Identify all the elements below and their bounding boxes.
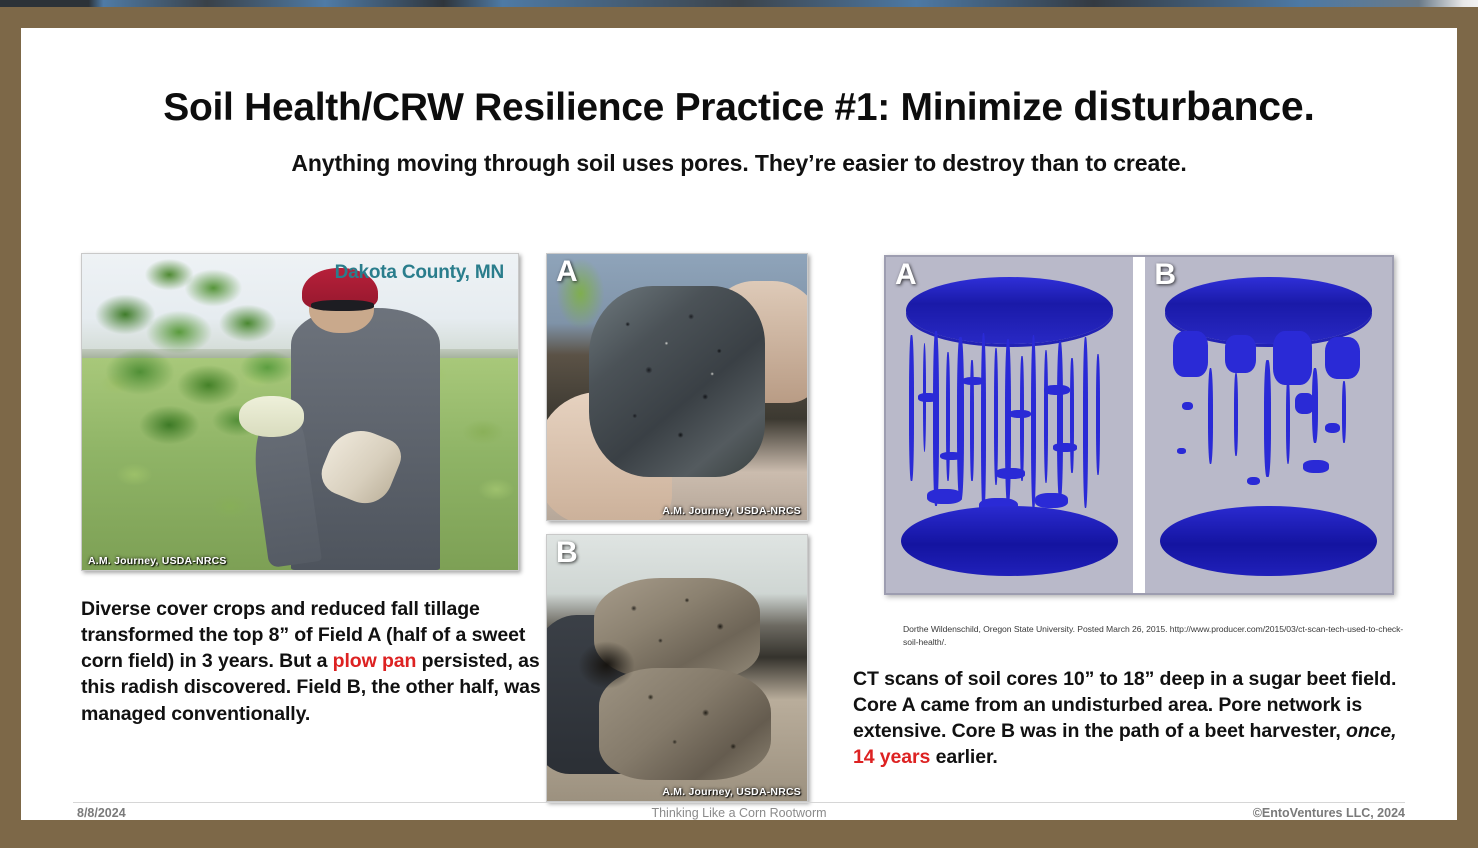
ct-panel-letter-b: B <box>1154 258 1176 292</box>
photo-radish-crown <box>239 396 304 437</box>
caption-highlight-plow-pan: plow pan <box>333 650 417 672</box>
caption-italic-once: once, <box>1346 720 1396 742</box>
ct-core-b: B <box>1145 257 1392 593</box>
left-caption: Diverse cover crops and reduced fall til… <box>81 596 541 727</box>
presentation-slide: Soil Health/CRW Resilience Practice #1: … <box>21 28 1457 820</box>
ct-scan-figure: A B <box>884 255 1394 595</box>
photo-credit-watermark: A.M. Journey, USDA-NRCS <box>662 505 801 517</box>
core-bottom-disc <box>1160 506 1377 577</box>
page-subtitle: Anything moving through soil uses pores.… <box>21 150 1457 177</box>
photo-credit-watermark: A.M. Journey, USDA-NRCS <box>88 555 227 567</box>
panel-letter-a: A <box>556 255 578 289</box>
title-main-text: Soil Health/CRW Resilience Practice #1: … <box>163 86 1073 129</box>
footer-deck-title: Thinking Like a Corn Rootworm <box>21 806 1457 820</box>
soil-clod-photo-b: B A.M. Journey, USDA-NRCS <box>546 534 808 802</box>
footer-divider <box>73 802 1405 803</box>
title-emphasis-text: disturbance. <box>1073 83 1314 129</box>
photo-radish-foliage <box>86 257 330 478</box>
core-bottom-disc <box>901 506 1118 577</box>
ct-panel-letter-a: A <box>895 258 917 292</box>
caption-text-part3: earlier. <box>930 746 997 768</box>
caption-text-part1: CT scans of soil cores 10” to 18” deep i… <box>853 668 1396 742</box>
photo-dark-shadow <box>578 641 635 689</box>
caption-highlight-14-years: 14 years <box>853 746 930 768</box>
page-title: Soil Health/CRW Resilience Practice #1: … <box>21 83 1457 130</box>
soil-clod-photo-a: A A.M. Journey, USDA-NRCS <box>546 253 808 521</box>
footer-copyright: ©EntoVentures LLC, 2024 <box>1253 806 1405 820</box>
photo-soil-aggregate <box>589 286 766 478</box>
window-chrome-sliver <box>0 0 1478 7</box>
right-caption: CT scans of soil cores 10” to 18” deep i… <box>853 666 1413 771</box>
photo-credit-watermark: A.M. Journey, USDA-NRCS <box>662 786 801 798</box>
ct-panel-divider <box>1133 257 1146 593</box>
photo-location-label: Dakota County, MN <box>335 262 504 284</box>
ct-figure-credit: Dorthe Wildenschild, Oregon State Univer… <box>903 623 1413 649</box>
field-radish-photo: Dakota County, MN A.M. Journey, USDA-NRC… <box>81 253 519 571</box>
panel-letter-b: B <box>556 536 578 570</box>
ct-core-a: A <box>886 257 1133 593</box>
